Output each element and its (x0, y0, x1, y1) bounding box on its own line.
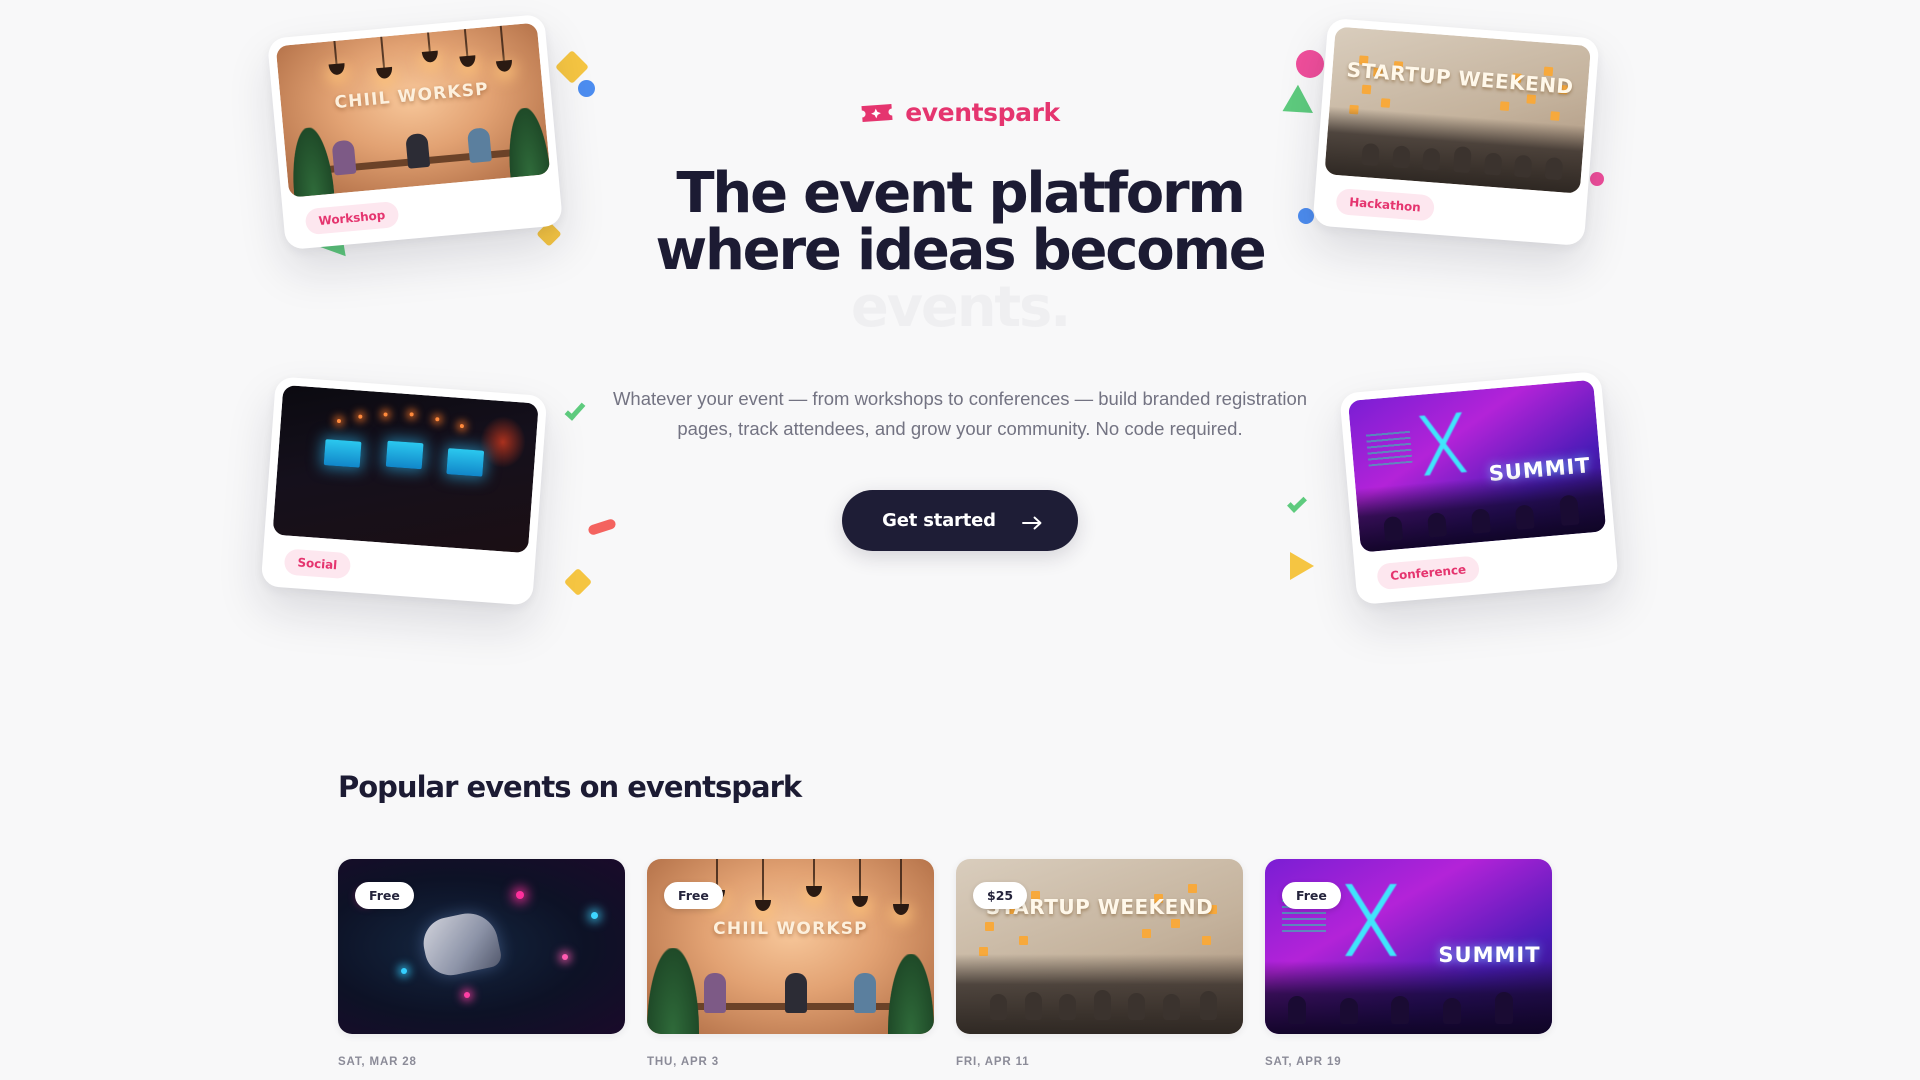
event-card-thumb: Free CHIIL WORKSP (647, 859, 934, 1034)
hero-card-workshop[interactable]: CHIIL WORKSP Workshop (267, 14, 563, 250)
event-card[interactable]: Free SAT, MAR 28 AI hackathon (338, 859, 625, 1080)
event-card-photo-text: CHIIL WORKSP (647, 919, 934, 939)
decor-diamond-yellow-1 (555, 50, 589, 84)
hero-card-photo: STARTUP WEEKEND (1324, 26, 1591, 193)
event-card[interactable]: $25 STARTUP WEEKEND (956, 859, 1243, 1080)
decor-circle-pink-2 (1296, 50, 1324, 78)
event-card-date: SAT, APR 19 (1265, 1056, 1552, 1068)
decor-circle-pink-3 (1590, 172, 1604, 186)
arrow-right-icon (1022, 514, 1042, 528)
hero-card-tag: Hackathon (1335, 188, 1434, 221)
landing-page: CHIIL WORKSP Workshop (0, 0, 1920, 1080)
hero-content: eventspark The event platform where idea… (580, 98, 1340, 551)
brand-name: eventspark (905, 98, 1060, 127)
popular-events-heading: Popular events on eventspark (338, 770, 1582, 804)
event-card-date: SAT, MAR 28 (338, 1056, 625, 1068)
hero-section: CHIIL WORKSP Workshop (0, 0, 1920, 760)
hero-card-hackathon[interactable]: STARTUP WEEKEND Hackathon (1312, 18, 1599, 246)
page-title: The event platform where ideas become ev… (580, 165, 1340, 336)
event-card[interactable]: Free SUMMIT SAT, APR 19 Microlinear summ… (1265, 859, 1552, 1080)
event-card-date: FRI, APR 11 (956, 1056, 1243, 1068)
hero-card-photo (272, 385, 538, 553)
event-card-grid: Free SAT, MAR 28 AI hackathon (338, 859, 1582, 1080)
headline-line-3-ghost: events. (851, 275, 1069, 340)
brand-logo[interactable]: eventspark (580, 98, 1340, 127)
popular-events-section: Popular events on eventspark Free SAT (338, 770, 1582, 1080)
price-badge: $25 (973, 882, 1027, 909)
hero-card-tag: Conference (1376, 555, 1480, 590)
price-badge: Free (355, 882, 414, 909)
decor-triangle-yellow-1 (1290, 552, 1314, 580)
decor-circle-blue-1 (578, 80, 595, 97)
get-started-label: Get started (882, 510, 996, 531)
hero-card-photo: CHIIL WORKSP (276, 23, 551, 198)
hero-card-social[interactable]: Social (261, 376, 548, 605)
event-card-thumb: Free (338, 859, 625, 1034)
get-started-button[interactable]: Get started (842, 490, 1078, 551)
hero-card-photo: SUMMIT (1348, 380, 1606, 553)
event-card-thumb: $25 STARTUP WEEKEND (956, 859, 1243, 1034)
price-badge: Free (1282, 882, 1341, 909)
headline-line-2: where ideas become (655, 218, 1264, 283)
headline-line-1: The event platform (676, 161, 1243, 226)
decor-diamond-yellow-3 (564, 568, 592, 596)
event-card[interactable]: Free CHIIL WORKSP (647, 859, 934, 1080)
event-card-thumb: Free SUMMIT (1265, 859, 1552, 1034)
hero-card-conference[interactable]: SUMMIT Conference (1339, 371, 1618, 605)
hero-subhead: Whatever your event — from workshops to … (580, 384, 1340, 444)
ticket-sparkle-icon (860, 101, 894, 125)
hero-card-tag: Social (284, 548, 351, 579)
price-badge: Free (664, 882, 723, 909)
hero-cta-wrap: Get started (580, 490, 1340, 551)
event-card-date: THU, APR 3 (647, 1056, 934, 1068)
hero-card-tag: Workshop (305, 201, 400, 235)
